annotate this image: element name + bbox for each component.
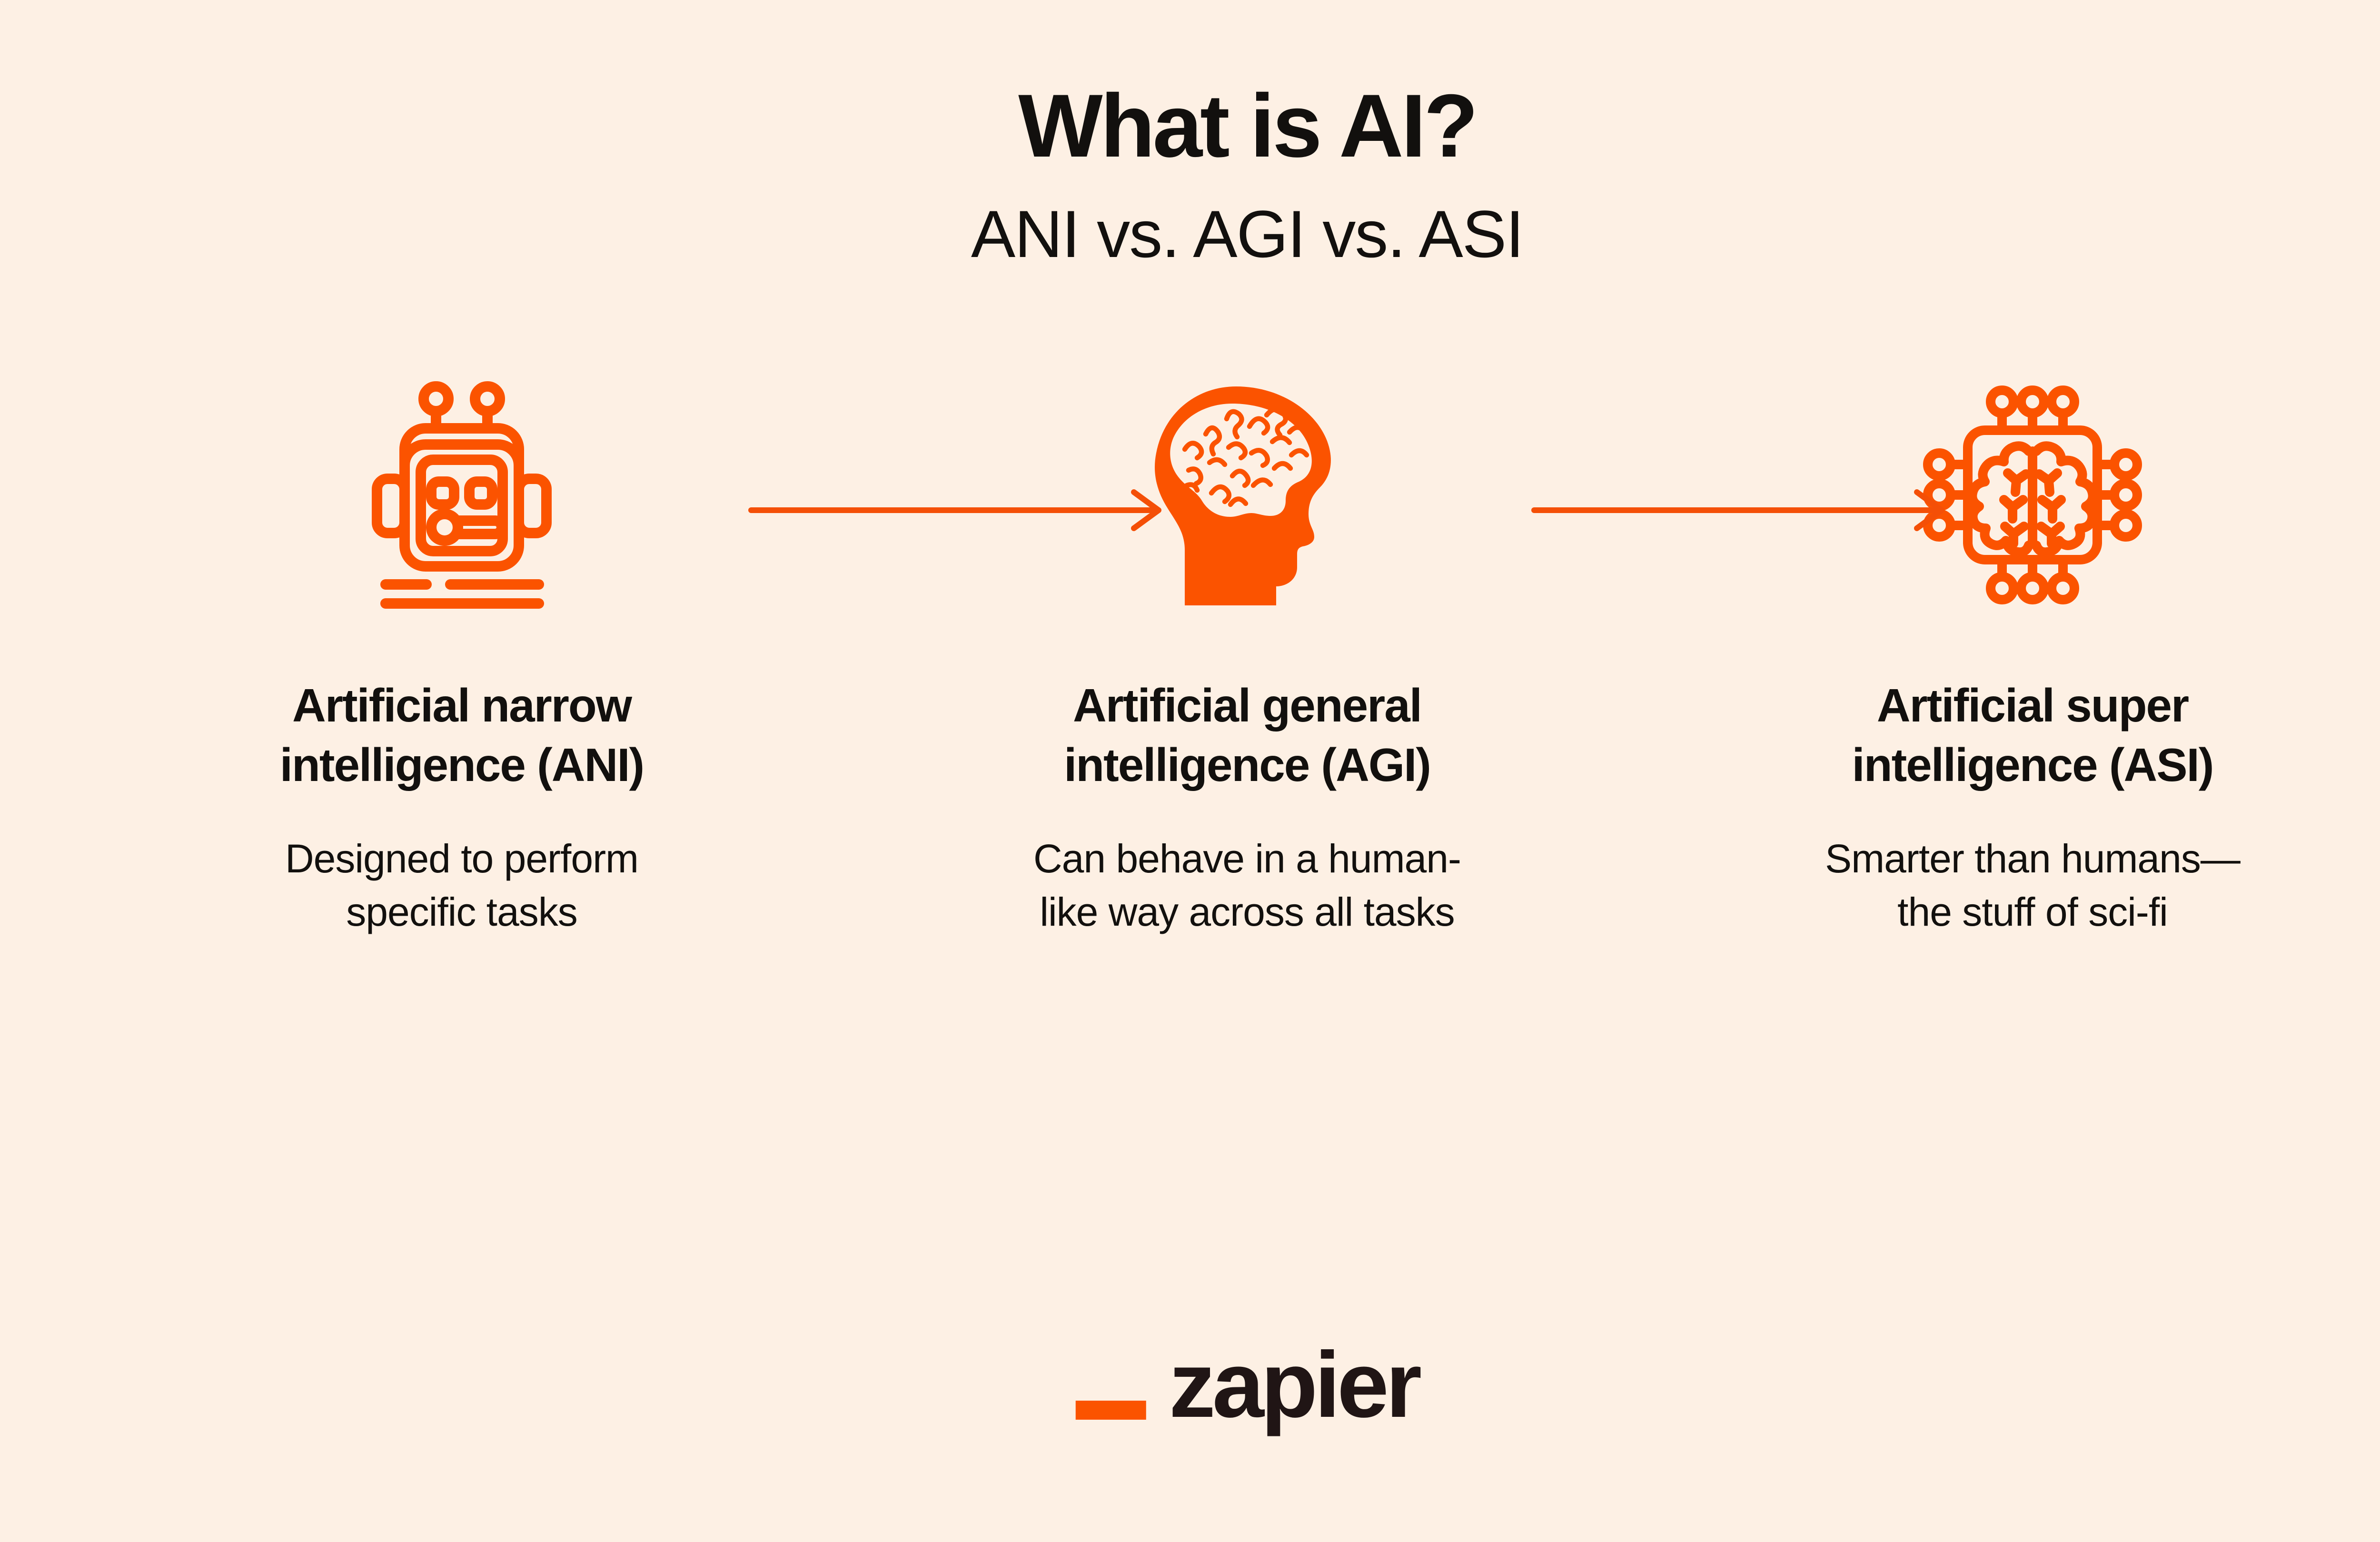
zapier-underscore-mark-icon xyxy=(1076,1401,1146,1420)
column-description-agi: Can behave in a human- like way across a… xyxy=(990,832,1504,939)
columns-row: Artificial narrow intelligence (ANI) Des… xyxy=(181,339,2313,939)
column-desc-line1: Can behave in a human- xyxy=(990,832,1504,886)
arrow-agi-to-asi-icon xyxy=(1530,482,1949,541)
column-desc-line2: the stuff of sci-fi xyxy=(1775,886,2290,939)
column-title-line1: Artificial narrow xyxy=(212,676,712,735)
head-brain-profile-icon xyxy=(1145,381,1349,612)
infographic-canvas: What is AI? ANI vs. AGI vs. ASI xyxy=(0,0,2380,1542)
column-title-line2: intelligence (ANI) xyxy=(212,735,712,795)
column-description-asi: Smarter than humans— the stuff of sci-fi xyxy=(1775,832,2290,939)
zapier-logo: zapier xyxy=(1076,1347,1418,1423)
zapier-wordmark: zapier xyxy=(1169,1347,1418,1423)
column-desc-line2: like way across all tasks xyxy=(990,886,1504,939)
icon-slot-agi xyxy=(1145,339,1349,653)
column-asi: Artificial super intelligence (ASI) Smar… xyxy=(1752,339,2313,939)
robot-icon xyxy=(352,381,571,612)
page-subtitle: ANI vs. AGI vs. ASI xyxy=(0,201,2380,267)
column-title-line1: Artificial general xyxy=(997,676,1497,735)
arrow-ani-to-agi-icon xyxy=(747,482,1166,541)
column-title-line2: intelligence (ASI) xyxy=(1783,735,2282,795)
column-title-line1: Artificial super xyxy=(1783,676,2282,735)
icon-slot-ani xyxy=(352,339,571,653)
column-title-line2: intelligence (AGI) xyxy=(997,735,1497,795)
column-desc-line2: specific tasks xyxy=(205,886,719,939)
column-title-ani: Artificial narrow intelligence (ANI) xyxy=(212,676,712,795)
heading-block: What is AI? ANI vs. AGI vs. ASI xyxy=(0,0,2380,267)
column-ani: Artificial narrow intelligence (ANI) Des… xyxy=(181,339,743,939)
column-desc-line1: Smarter than humans— xyxy=(1775,832,2290,886)
column-agi: Artificial general intelligence (AGI) Ca… xyxy=(966,339,1528,939)
column-title-agi: Artificial general intelligence (AGI) xyxy=(997,676,1497,795)
column-desc-line1: Designed to perform xyxy=(205,832,719,886)
column-title-asi: Artificial super intelligence (ASI) xyxy=(1783,676,2282,795)
page-title: What is AI? xyxy=(0,81,2380,170)
column-description-ani: Designed to perform specific tasks xyxy=(205,832,719,939)
